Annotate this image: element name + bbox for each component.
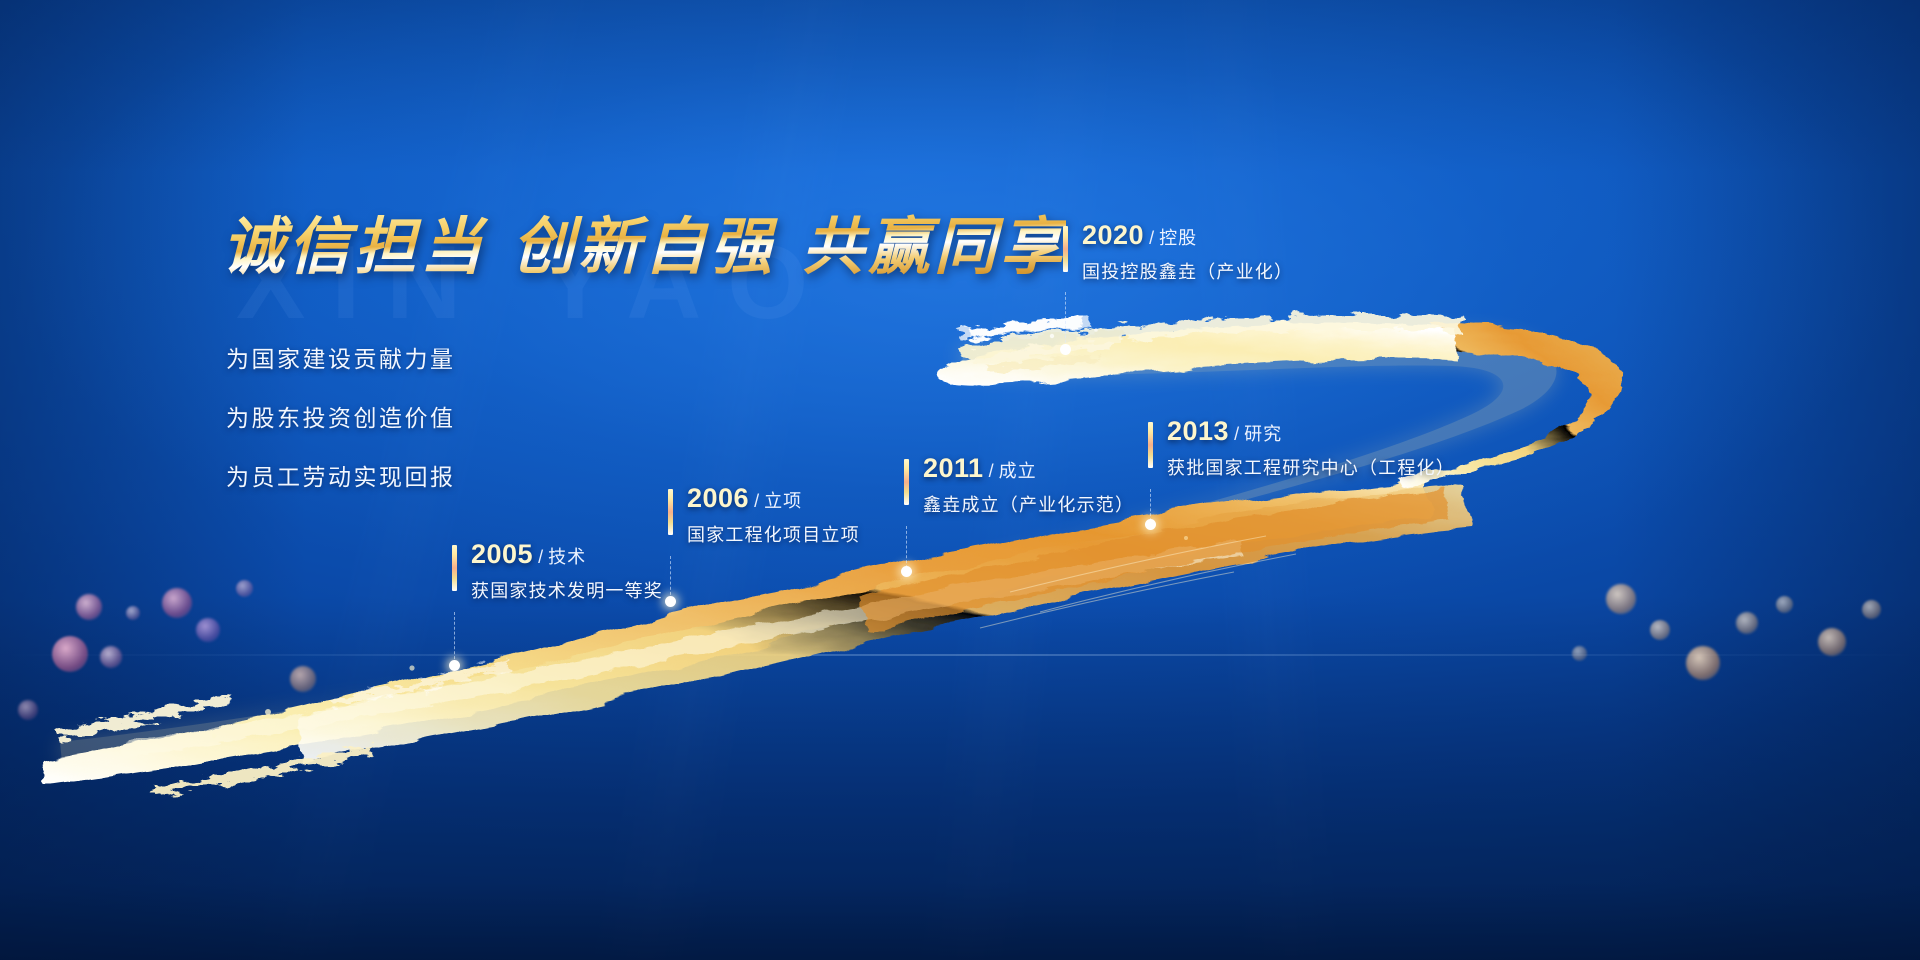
milestone-heading: 2006/立项 (687, 485, 860, 512)
headline-part-3: 共赢同享 (802, 210, 1066, 283)
slogan-line: 为股东投资创造价值 (226, 399, 456, 433)
milestone-separator: / (1149, 228, 1154, 248)
banner-canvas: XIN YAO 诚信担当创新自强共赢同享 为国家建设贡献力量 为股东投资创造价值… (0, 0, 1920, 960)
milestone-year: 2020 (1082, 220, 1144, 250)
milestone-description: 获批国家工程研究中心（工程化） (1167, 454, 1455, 480)
milestone-dot-2005 (449, 660, 460, 671)
milestone-dot-2006 (665, 596, 676, 607)
milestone-year: 2011 (923, 453, 984, 483)
milestone-connector-2020 (1065, 292, 1066, 348)
milestone-description: 鑫垚成立（产业化示范） (923, 491, 1134, 517)
slogan-line: 为国家建设贡献力量 (226, 340, 456, 374)
milestone-2020[interactable]: 2020/控股 国投控股鑫垚（产业化） (1063, 222, 1293, 284)
milestone-dot-2011 (901, 566, 912, 577)
milestone-accent-bar (1148, 422, 1153, 468)
milestone-dot-2020 (1060, 344, 1071, 355)
milestone-accent-bar (904, 459, 909, 505)
milestone-connector-2006 (670, 556, 671, 600)
slogan-line: 为员工劳动实现回报 (226, 458, 456, 492)
milestone-heading: 2005/技术 (471, 541, 663, 568)
milestone-kind: 研究 (1244, 424, 1282, 444)
milestone-kind: 控股 (1159, 228, 1197, 248)
milestone-heading: 2013/研究 (1167, 418, 1455, 445)
milestone-separator: / (989, 461, 994, 481)
milestone-separator: / (1234, 424, 1239, 444)
milestone-connector-2013 (1150, 489, 1151, 521)
milestone-2006[interactable]: 2006/立项 国家工程化项目立项 (668, 485, 860, 547)
milestone-heading: 2020/控股 (1082, 222, 1293, 249)
milestone-2005[interactable]: 2005/技术 获国家技术发明一等奖 (452, 541, 663, 603)
milestone-kind: 立项 (764, 491, 802, 511)
slogan-list: 为国家建设贡献力量 为股东投资创造价值 为员工劳动实现回报 (226, 340, 456, 517)
milestone-accent-bar (452, 545, 457, 591)
milestone-connector-2011 (906, 526, 907, 568)
milestone-dot-2013 (1145, 519, 1156, 530)
milestone-description: 国投控股鑫垚（产业化） (1082, 258, 1293, 284)
milestone-separator: / (538, 547, 543, 567)
milestone-description: 国家工程化项目立项 (687, 521, 860, 547)
milestone-kind: 成立 (999, 461, 1037, 481)
milestone-accent-bar (668, 489, 673, 535)
milestone-year: 2006 (687, 483, 749, 513)
milestone-2011[interactable]: 2011/成立 鑫垚成立（产业化示范） (904, 455, 1134, 517)
headline-part-2: 创新自强 (512, 210, 776, 283)
milestone-2013[interactable]: 2013/研究 获批国家工程研究中心（工程化） (1148, 418, 1455, 480)
page-title: 诚信担当创新自强共赢同享 (222, 196, 1066, 286)
milestone-year: 2005 (471, 539, 533, 569)
milestone-heading: 2011/成立 (923, 455, 1134, 482)
milestone-kind: 技术 (548, 547, 586, 567)
milestone-year: 2013 (1167, 416, 1229, 446)
milestone-accent-bar (1063, 226, 1068, 272)
milestone-description: 获国家技术发明一等奖 (471, 577, 663, 603)
milestone-connector-2005 (454, 612, 455, 664)
horizon-light-line (0, 654, 1920, 656)
headline-part-1: 诚信担当 (222, 210, 486, 283)
milestone-separator: / (754, 491, 759, 511)
